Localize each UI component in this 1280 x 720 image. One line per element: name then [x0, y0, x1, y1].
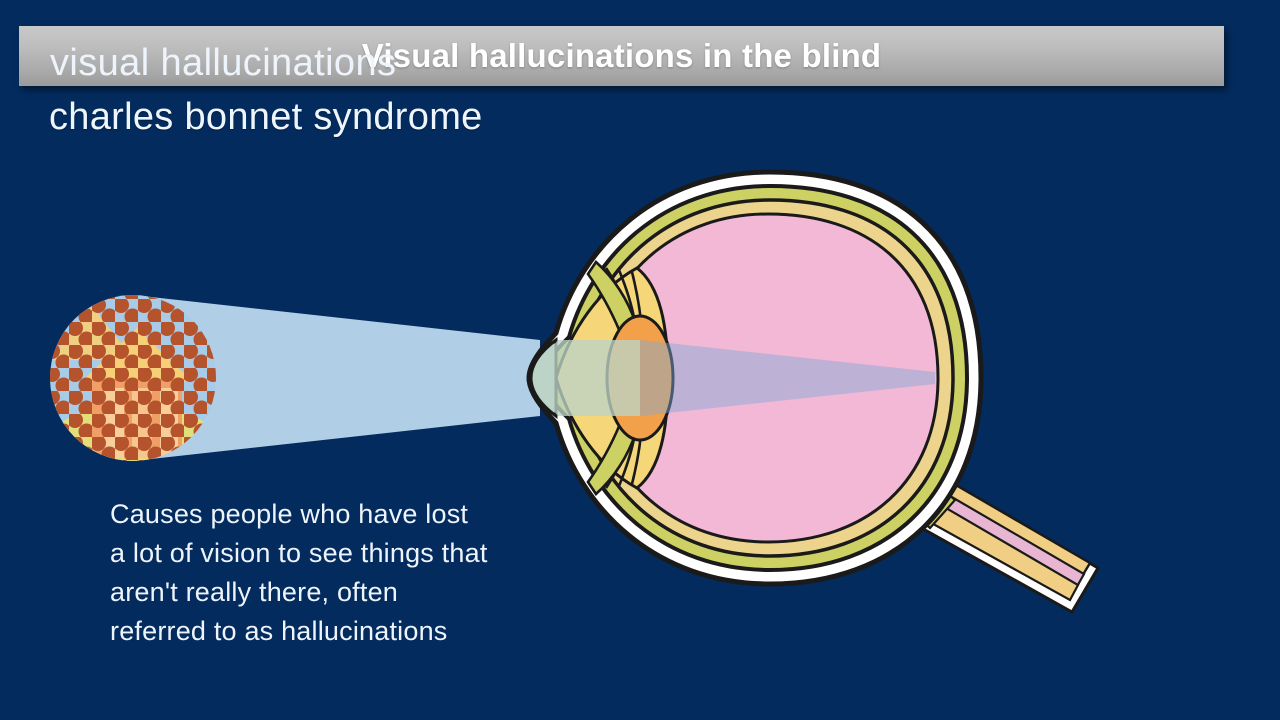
body-line-4: referred to as hallucinations: [110, 612, 580, 651]
body-line-2: a lot of vision to see things that: [110, 534, 580, 573]
slide-canvas: visual hallucinations: [0, 0, 1280, 720]
occluded-heading: visual hallucinations: [50, 42, 396, 85]
vignette-dot-overlay: [50, 295, 216, 461]
body-line-3: aren't really there, often: [110, 573, 580, 612]
body-line-1: Causes people who have lost: [110, 495, 580, 534]
body-paragraph: Causes people who have lost a lot of vis…: [110, 495, 580, 651]
slide-subtitle: charles bonnet syndrome: [49, 96, 483, 139]
slide-title: Visual hallucinations in the blind: [362, 37, 882, 75]
